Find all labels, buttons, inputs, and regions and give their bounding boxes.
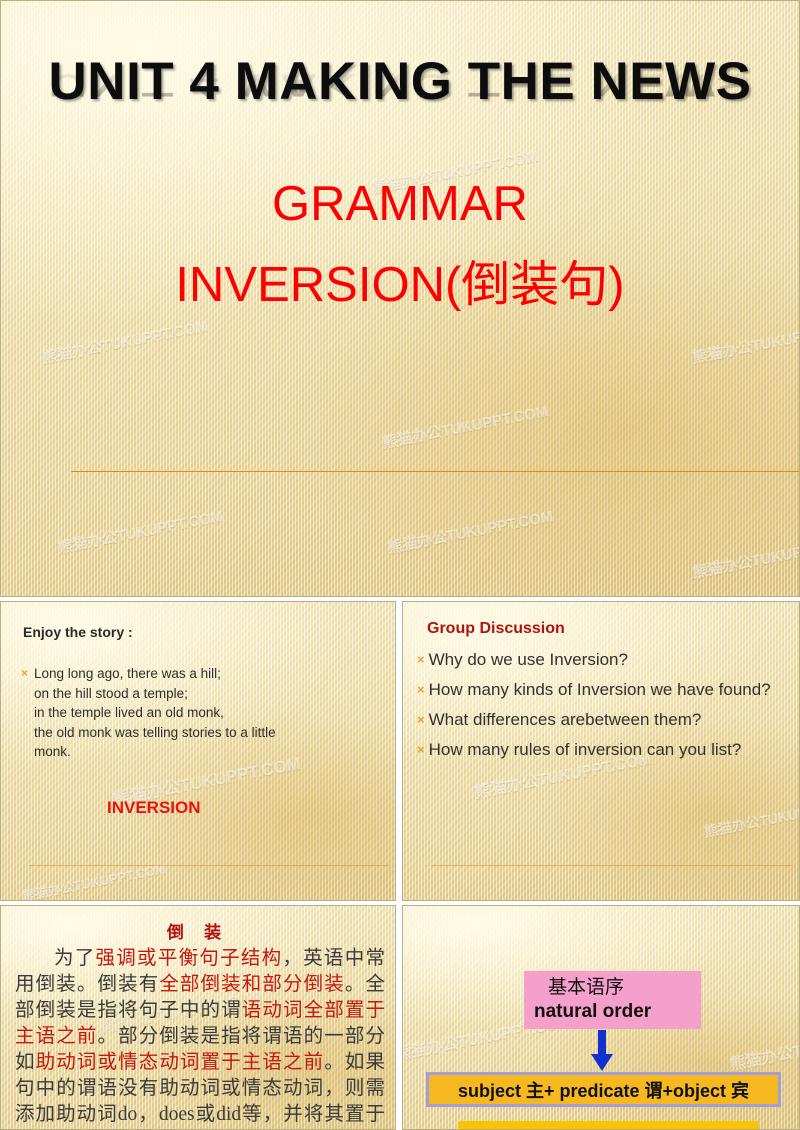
subtitle-grammar: GRAMMAR	[1, 179, 799, 230]
watermark: 熊猫办公TUKUPPT.COM	[691, 530, 800, 583]
list-item-label: What differences arebetween them?	[429, 708, 702, 732]
list-item-label: How many rules of inversion can you list…	[429, 738, 742, 762]
highlighted-phrase: 全部倒装和部分倒装	[159, 974, 345, 995]
formula-label: subject 主+ predicate 谓+object 宾	[458, 1077, 749, 1103]
bullet-x-icon: ×	[417, 648, 425, 672]
bullet-x-icon: ×	[417, 738, 425, 762]
story-line: on the hill stood a temple;	[34, 684, 276, 704]
watermark: 熊猫办公TUKUPPT.COM	[381, 400, 550, 453]
list-item: × Long long ago, there was a hill; on th…	[21, 664, 381, 762]
down-arrow-icon	[590, 1030, 614, 1072]
natural-order-label-cn: 基本语序	[534, 976, 624, 1000]
story-lines: Long long ago, there was a hill; on the …	[34, 664, 276, 762]
list-item: × How many rules of inversion can you li…	[417, 738, 793, 762]
daozhuang-paragraph: 为了强调或平衡句子结构，英语中常用倒装。倒装有全部倒装和部分倒装。全部倒装是指将…	[15, 946, 385, 1130]
slide-deck-preview: 熊猫办公TUKUPPT.COM 熊猫办公TUKUPPT.COM 熊猫办公TUKU…	[0, 0, 800, 1130]
page-title: UNIT 4 MAKING THE NEWS	[1, 51, 799, 112]
paragraph-text: 为了	[54, 948, 96, 969]
natural-order-box: 基本语序 natural order	[524, 971, 701, 1029]
watermark: 熊猫办公TUKUPPT.COM	[386, 505, 555, 558]
example-subject: I	[458, 1125, 554, 1130]
list-item-label: How many kinds of Inversion we have foun…	[429, 678, 771, 702]
highlighted-phrase: 助动词或情态动词置于主语之前	[36, 1052, 325, 1073]
story-line: the old monk was telling stories to a li…	[34, 723, 276, 743]
watermark: 熊猫办公TUKUPPT.COM	[56, 505, 225, 558]
watermark: 熊猫办公TUKUPPT.COM	[691, 315, 800, 368]
discussion-heading: Group Discussion	[427, 620, 565, 638]
watermark: 熊猫办公TUKUPPT.COM	[703, 792, 800, 842]
list-item: × How many kinds of Inversion we have fo…	[417, 678, 793, 702]
bullet-x-icon: ×	[417, 708, 425, 732]
list-item: × Why do we use Inversion?	[417, 648, 793, 672]
bullet-x-icon: ×	[21, 664, 28, 683]
story-line: in the temple lived an old monk,	[34, 703, 276, 723]
natural-order-label-en: natural order	[534, 1000, 651, 1024]
formula-box: subject 主+ predicate 谓+object 宾	[426, 1072, 781, 1107]
example-object: English.	[662, 1125, 758, 1130]
story-body: × Long long ago, there was a hill; on th…	[21, 664, 381, 762]
title-subtitle-group: GRAMMAR INVERSION(倒装句)	[1, 179, 799, 312]
slide-divider-rule	[431, 865, 793, 866]
list-item: × What differences arebetween them?	[417, 708, 793, 732]
title-divider-rule	[71, 471, 799, 472]
slide-enjoy-the-story[interactable]: 熊猫办公TUKUPPT.COM 熊猫办公TUKUPPT.COM Enjoy th…	[0, 601, 396, 901]
slide-divider-rule	[29, 865, 389, 866]
story-callout-inversion: INVERSION	[107, 798, 201, 818]
daozhuang-heading: 倒 装	[1, 918, 395, 943]
story-line: monk.	[34, 742, 276, 762]
story-line: Long long ago, there was a hill;	[34, 664, 276, 684]
story-heading: Enjoy the story :	[23, 624, 133, 640]
highlighted-phrase: 强调或平衡句子结构	[96, 948, 283, 969]
example-sentence-row: I love English.	[458, 1121, 758, 1130]
slide-title[interactable]: 熊猫办公TUKUPPT.COM 熊猫办公TUKUPPT.COM 熊猫办公TUKU…	[0, 0, 800, 597]
discussion-list: × Why do we use Inversion? × How many ki…	[417, 648, 793, 768]
list-item-label: Why do we use Inversion?	[429, 648, 628, 672]
slide-natural-order[interactable]: 熊猫办公TUKUPPT.COM 熊猫办公TUKUPPT.COM 基本语序 nat…	[402, 905, 800, 1130]
example-predicate: love	[554, 1125, 662, 1130]
slide-group-discussion[interactable]: 熊猫办公TUKUPPT.COM 熊猫办公TUKUPPT.COM Group Di…	[402, 601, 800, 901]
slide-daozhuang-explanation[interactable]: 熊猫办公TUKUPPT.COM 倒 装 为了强调或平衡句子结构，英语中常用倒装。…	[0, 905, 396, 1130]
bullet-x-icon: ×	[417, 678, 425, 702]
subtitle-inversion: INVERSION(倒装句)	[1, 260, 799, 311]
watermark: 熊猫办公TUKUPPT.COM	[727, 1017, 800, 1075]
watermark: 熊猫办公TUKUPPT.COM	[41, 315, 210, 368]
